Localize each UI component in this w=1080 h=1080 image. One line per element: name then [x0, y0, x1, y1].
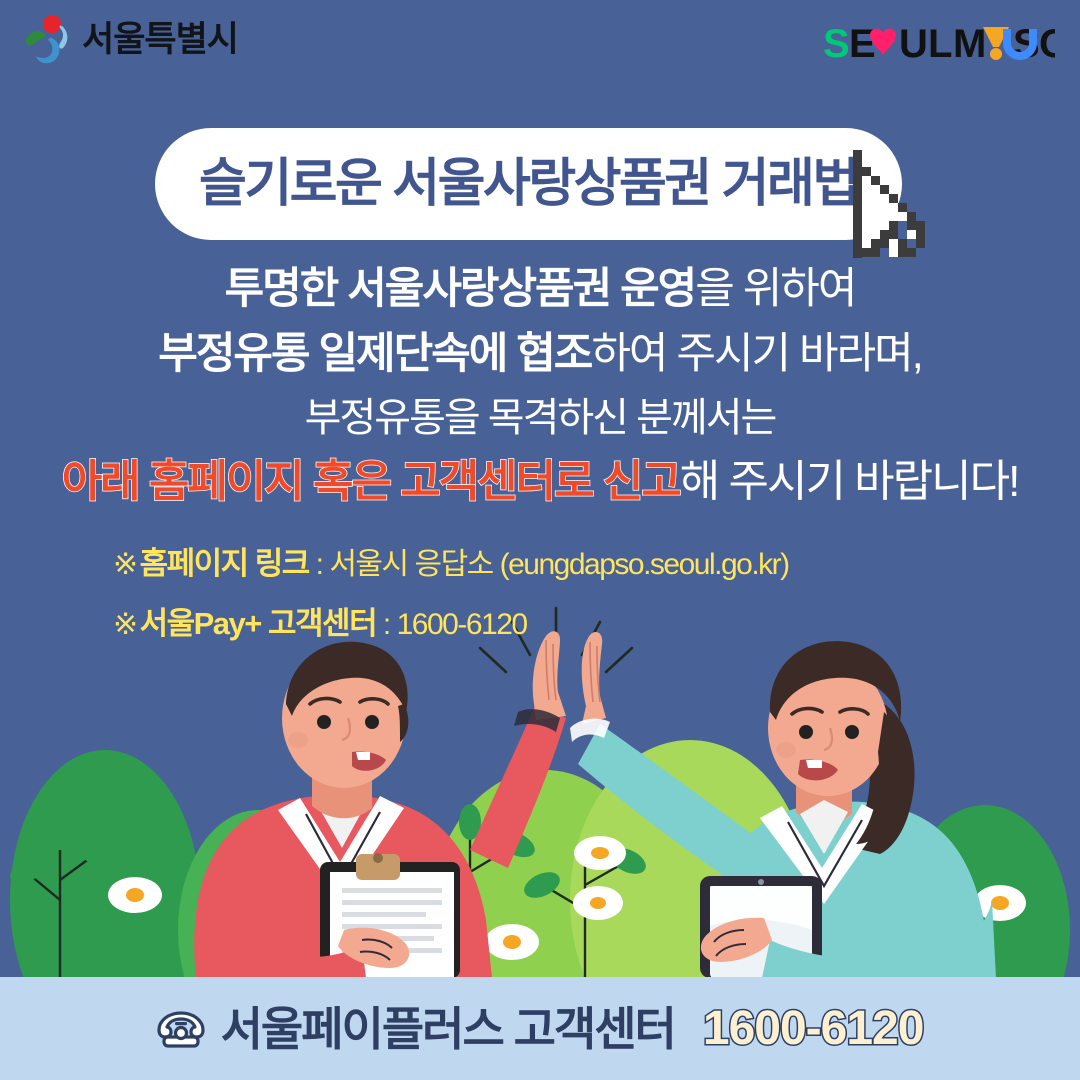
message-line-3: 부정유통을 목격하신 분께서는: [0, 398, 1080, 438]
footer-phone-number: 1600-6120: [703, 1005, 924, 1053]
mouse-pointer-icon: [845, 150, 935, 270]
message-line-2: 부정유통 일제단속에 협조하여 주시기 바라며,: [0, 333, 1080, 376]
footer-label: 서울페이플러스 고객센터: [221, 1006, 675, 1052]
page-title: 슬기로운 서울사랑상품권 거래법: [199, 158, 858, 210]
note-customer-center: ※ 서울Pay+ 고객센터 : 1600-6120: [113, 608, 789, 640]
seoul-my-soul-logo: S E U L M S O U: [823, 22, 1055, 66]
message-block: 투명한 서울사랑상품권 운영을 위하여 부정유통 일제단속에 협조하여 주시기 …: [0, 268, 1080, 504]
note-homepage-value: : 서울시 응답소 (eungdapso.seoul.go.kr): [309, 548, 789, 581]
message-line-2-bold: 부정유통 일제단속에 협조: [158, 330, 591, 378]
message-line-3-regular: 부정유통을 목격하신 분께서는: [305, 396, 776, 440]
note-customer-center-value: : 1600-6120: [376, 608, 526, 641]
message-line-1-bold: 투명한 서울사랑상품권 운영: [225, 265, 696, 313]
svg-text:M: M: [953, 22, 986, 66]
seoul-city-brand: 서울특별시: [22, 12, 238, 68]
note-mark-icon-2: ※: [113, 608, 137, 641]
message-line-2-regular: 하여 주시기 바라며,: [591, 330, 921, 378]
title-banner: 슬기로운 서울사랑상품권 거래법: [155, 128, 902, 240]
svg-text:U: U: [899, 22, 928, 66]
note-customer-center-key: 서울Pay+ 고객센터: [140, 606, 377, 641]
footer-bar: 서울페이플러스 고객센터 1600-6120: [0, 977, 1080, 1080]
svg-text:S: S: [823, 22, 850, 66]
city-name-label: 서울특별시: [82, 12, 238, 68]
note-homepage-key: 홈페이지 링크: [140, 546, 309, 581]
note-homepage-link: ※ 홈페이지 링크 : 서울시 응답소 (eungdapso.seoul.go.…: [113, 548, 789, 580]
telephone-icon: [157, 1009, 205, 1049]
message-line-4-highlight: 아래 홈페이지 혹은 고객센터로 신고: [62, 457, 680, 506]
svg-text:E: E: [849, 22, 876, 66]
notes-block: ※ 홈페이지 링크 : 서울시 응답소 (eungdapso.seoul.go.…: [113, 548, 789, 668]
message-line-1: 투명한 서울사랑상품권 운영을 위하여: [0, 268, 1080, 311]
note-mark-icon: ※: [113, 548, 137, 581]
header: 서울특별시 S E U L M S O: [0, 0, 1080, 86]
title-pill: 슬기로운 서울사랑상품권 거래법: [155, 128, 902, 240]
message-line-1-regular: 을 위하여: [695, 265, 855, 313]
message-line-4-regular: 해 주시기 바랍니다!: [680, 457, 1019, 506]
svg-text:L: L: [928, 22, 952, 66]
seoul-city-emblem-icon: [22, 12, 74, 68]
message-line-4: 아래 홈페이지 혹은 고객센터로 신고해 주시기 바랍니다!: [0, 460, 1080, 504]
poster-root: 서울특별시 S E U L M S O: [0, 0, 1080, 1080]
